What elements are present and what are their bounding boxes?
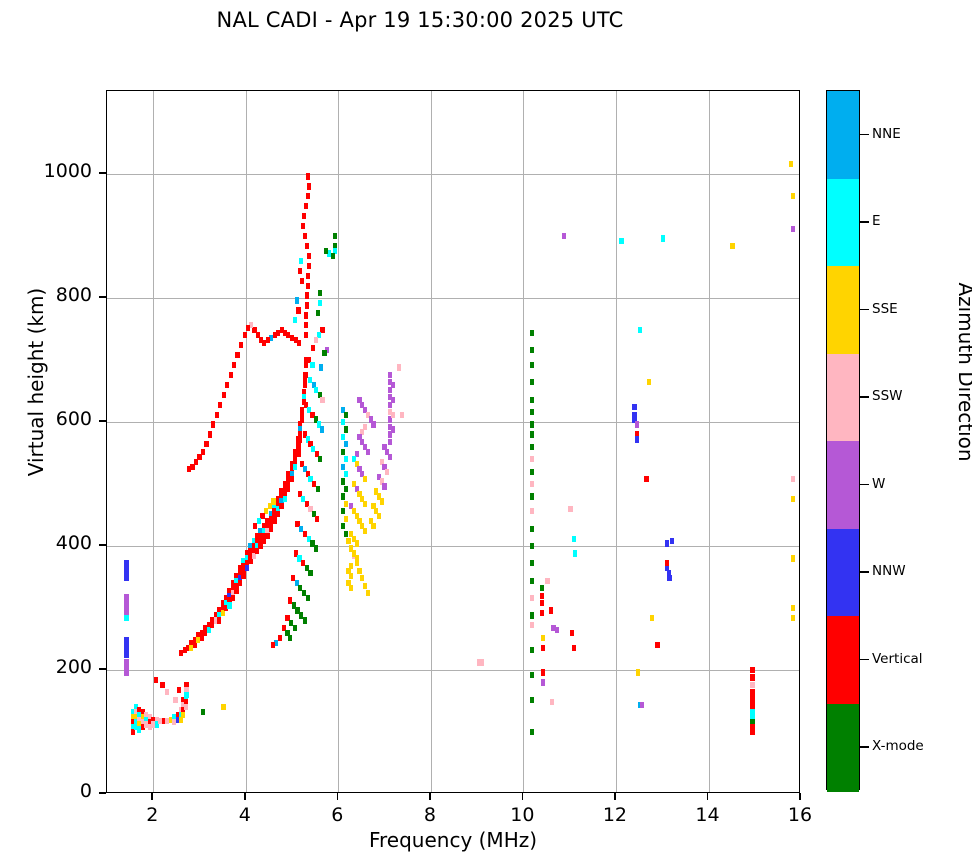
echo-point	[341, 508, 345, 514]
echo-point	[201, 709, 205, 715]
y-axis-tick	[99, 296, 106, 298]
echo-point	[670, 538, 674, 544]
echo-point	[344, 501, 348, 507]
echo-point	[124, 669, 128, 675]
echo-point	[346, 538, 350, 544]
echo-point	[238, 580, 242, 586]
echo-point	[791, 476, 795, 482]
echo-point	[341, 464, 345, 470]
echo-point	[217, 617, 221, 623]
echo-point	[306, 273, 310, 279]
echo-point	[215, 412, 219, 418]
echo-point	[177, 687, 181, 693]
echo-point	[298, 268, 302, 274]
echo-point	[124, 652, 128, 658]
colorbar-label-nne: NNE	[872, 126, 901, 142]
echo-point	[388, 454, 392, 460]
echo-point	[300, 278, 304, 284]
echo-point	[789, 161, 793, 167]
colorbar-segment-x-mode	[827, 704, 859, 792]
echo-point	[184, 692, 188, 698]
y-axis-tick	[99, 544, 106, 546]
echo-point	[530, 647, 534, 653]
colorbar-label-e: E	[872, 213, 881, 229]
echo-point	[363, 476, 367, 482]
echo-point	[173, 697, 177, 703]
echo-point	[750, 674, 754, 680]
echo-point	[307, 263, 311, 269]
echo-point	[265, 533, 269, 539]
echo-point	[650, 615, 654, 621]
echo-point	[391, 397, 395, 403]
ionogram-figure: NAL CADI - Apr 19 15:30:00 2025 UTC Freq…	[0, 0, 972, 865]
echo-point	[791, 226, 795, 232]
colorbar-tick	[860, 134, 869, 136]
echo-point	[344, 516, 348, 522]
echo-point	[530, 397, 534, 403]
echo-point	[344, 456, 348, 462]
echo-point	[540, 593, 544, 599]
echo-point	[221, 704, 225, 710]
echo-point	[310, 362, 314, 368]
echo-point	[530, 508, 534, 514]
echo-point	[391, 382, 395, 388]
echo-point	[293, 625, 297, 631]
echo-point	[791, 496, 795, 502]
echo-point	[271, 498, 275, 504]
echo-point	[257, 518, 261, 524]
echo-point	[357, 568, 361, 574]
colorbar-tick	[860, 309, 869, 311]
colorbar-segment-e	[827, 179, 859, 267]
echo-point	[306, 173, 310, 179]
echo-point	[320, 327, 324, 333]
echo-point	[572, 645, 576, 651]
echo-point	[530, 622, 534, 628]
echo-point	[632, 404, 636, 410]
echo-point	[222, 392, 226, 398]
colorbar-label-x-mode: X-mode	[872, 738, 924, 754]
echo-point	[530, 469, 534, 475]
echo-point	[568, 506, 572, 512]
echo-point	[304, 203, 308, 209]
echo-point	[344, 486, 348, 492]
echo-point	[288, 635, 292, 641]
echo-point	[304, 322, 308, 328]
colorbar-label-w: W	[872, 476, 885, 492]
echo-point	[549, 607, 553, 613]
echo-point	[298, 436, 302, 442]
echo-point	[246, 325, 250, 331]
echo-point	[278, 635, 282, 641]
echo-point	[638, 327, 642, 333]
echo-point	[322, 350, 326, 356]
plot-area	[106, 90, 800, 793]
echo-point	[305, 302, 309, 308]
x-axis-tick	[337, 793, 339, 800]
echo-point	[371, 421, 375, 427]
echo-point	[344, 426, 348, 432]
echo-point	[211, 421, 215, 427]
echo-point	[303, 233, 307, 239]
echo-point	[530, 481, 534, 487]
echo-point	[306, 283, 310, 289]
echo-point	[388, 439, 392, 445]
echo-point	[320, 397, 324, 403]
echo-point	[400, 412, 404, 418]
echo-point	[232, 362, 236, 368]
echo-point	[619, 238, 623, 244]
echo-point	[635, 421, 639, 427]
echo-point	[530, 456, 534, 462]
colorbar-label-vertical: Vertical	[872, 651, 923, 667]
y-axis-tick-label: 200	[22, 656, 92, 678]
data-points-layer	[107, 91, 799, 792]
echo-point	[349, 585, 353, 591]
echo-point	[572, 536, 576, 542]
echo-point	[290, 476, 294, 482]
echo-point	[647, 379, 651, 385]
echo-point	[665, 560, 669, 566]
echo-point	[319, 364, 323, 370]
echo-point	[530, 560, 534, 566]
echo-point	[231, 595, 235, 601]
x-axis-tick	[429, 793, 431, 800]
x-axis-tick-label: 4	[215, 804, 275, 826]
echo-point	[301, 223, 305, 229]
echo-point	[366, 449, 370, 455]
echo-point	[661, 235, 665, 241]
echo-point	[541, 679, 545, 685]
echo-point	[271, 642, 275, 648]
echo-point	[791, 193, 795, 199]
x-axis-tick-label: 6	[307, 804, 367, 826]
y-axis-tick	[99, 172, 106, 174]
echo-point	[341, 493, 345, 499]
echo-point	[341, 523, 345, 529]
echo-point	[371, 523, 375, 529]
echo-point	[344, 441, 348, 447]
echo-point	[655, 642, 659, 648]
colorbar-label: Azimuth Direction	[954, 242, 972, 502]
echo-point	[550, 699, 554, 705]
echo-point	[315, 516, 319, 522]
colorbar-label-ssw: SSW	[872, 388, 903, 404]
y-axis-tick-label: 800	[22, 284, 92, 306]
echo-point	[391, 426, 395, 432]
echo-point	[349, 573, 353, 579]
echo-point	[377, 513, 381, 519]
echo-point	[283, 496, 287, 502]
echo-point	[397, 364, 401, 370]
echo-point	[181, 712, 185, 718]
echo-point	[279, 503, 283, 509]
echo-point	[545, 578, 549, 584]
echo-point	[311, 345, 315, 351]
echo-point	[201, 449, 205, 455]
colorbar-segment-nnw	[827, 529, 859, 617]
echo-point	[573, 550, 577, 556]
echo-point	[269, 526, 273, 532]
colorbar-label-sse: SSE	[872, 301, 898, 317]
echo-point	[307, 253, 311, 259]
echo-point	[791, 605, 795, 611]
echo-point	[302, 213, 306, 219]
colorbar-tick	[860, 571, 869, 573]
echo-point	[344, 412, 348, 418]
echo-point	[304, 332, 308, 338]
echo-point	[366, 590, 370, 596]
echo-point	[570, 630, 574, 636]
echo-point	[154, 677, 158, 683]
colorbar	[826, 90, 860, 790]
echo-point	[184, 704, 188, 710]
y-axis-tick	[99, 668, 106, 670]
echo-point	[274, 640, 278, 646]
echo-point	[187, 466, 191, 472]
x-axis-tick	[614, 793, 616, 800]
echo-point	[290, 335, 294, 341]
echo-point	[380, 498, 384, 504]
echo-point	[530, 578, 534, 584]
echo-point	[791, 615, 795, 621]
echo-point	[331, 253, 335, 259]
echo-point	[227, 602, 231, 608]
echo-point	[530, 672, 534, 678]
echo-point	[318, 456, 322, 462]
echo-point	[305, 243, 309, 249]
colorbar-label-nnw: NNW	[872, 563, 906, 579]
echo-point	[204, 441, 208, 447]
echo-point	[530, 431, 534, 437]
echo-point	[355, 540, 359, 546]
echo-point	[644, 476, 648, 482]
echo-point	[225, 382, 229, 388]
echo-point	[477, 659, 481, 665]
echo-point	[293, 317, 297, 323]
x-axis-tick	[707, 793, 709, 800]
x-axis-tick	[522, 793, 524, 800]
x-axis-tick-label: 2	[122, 804, 182, 826]
echo-point	[541, 645, 545, 651]
echo-point	[344, 471, 348, 477]
echo-point	[341, 419, 345, 425]
echo-point	[363, 501, 367, 507]
echo-point	[295, 297, 299, 303]
echo-point	[253, 523, 257, 529]
echo-point	[530, 362, 534, 368]
echo-point	[286, 486, 290, 492]
echo-point	[530, 595, 534, 601]
x-axis-tick	[244, 793, 246, 800]
echo-point	[218, 402, 222, 408]
echo-point	[391, 412, 395, 418]
colorbar-tick	[860, 221, 869, 223]
echo-point	[307, 183, 311, 189]
echo-point	[791, 555, 795, 561]
echo-point	[303, 617, 307, 623]
colorbar-segment-ssw	[827, 354, 859, 442]
echo-point	[530, 526, 534, 532]
echo-point	[260, 513, 264, 519]
echo-point	[304, 312, 308, 318]
x-axis-tick-label: 16	[770, 804, 830, 826]
echo-point	[320, 426, 324, 432]
echo-point	[363, 528, 367, 534]
echo-point	[385, 469, 389, 475]
echo-point	[667, 575, 671, 581]
echo-point	[324, 248, 328, 254]
y-axis-tick-label: 600	[22, 408, 92, 430]
echo-point	[363, 583, 367, 589]
echo-point	[540, 585, 544, 591]
echo-point	[318, 300, 322, 306]
echo-point	[382, 483, 386, 489]
echo-point	[530, 421, 534, 427]
echo-point	[388, 372, 392, 378]
echo-point	[355, 555, 359, 561]
echo-point	[341, 449, 345, 455]
y-axis-tick-label: 0	[22, 780, 92, 802]
echo-point	[296, 307, 300, 313]
echo-point	[635, 436, 639, 442]
echo-point	[208, 431, 212, 437]
echo-point	[344, 531, 348, 537]
y-axis-tick-label: 400	[22, 532, 92, 554]
echo-point	[305, 292, 309, 298]
echo-point	[750, 667, 754, 673]
echo-point	[318, 290, 322, 296]
echo-point	[234, 588, 238, 594]
echo-point	[530, 543, 534, 549]
echo-point	[245, 565, 249, 571]
echo-point	[235, 352, 239, 358]
echo-point	[296, 451, 300, 457]
y-axis-tick	[99, 420, 106, 422]
echo-point	[165, 689, 169, 695]
echo-point	[341, 434, 345, 440]
echo-point	[314, 337, 318, 343]
echo-point	[280, 327, 284, 333]
echo-point	[241, 573, 245, 579]
x-axis-tick-label: 10	[492, 804, 552, 826]
echo-point	[750, 682, 754, 688]
echo-point	[300, 416, 304, 422]
echo-point	[341, 478, 345, 484]
echo-point	[530, 347, 534, 353]
echo-point	[530, 444, 534, 450]
echo-point	[530, 409, 534, 415]
echo-point	[243, 332, 247, 338]
echo-point	[294, 337, 298, 343]
echo-point	[360, 575, 364, 581]
echo-point	[306, 595, 310, 601]
plot-title: NAL CADI - Apr 19 15:30:00 2025 UTC	[0, 8, 840, 32]
echo-point	[555, 627, 559, 633]
colorbar-segment-nne	[827, 91, 859, 179]
echo-point	[229, 372, 233, 378]
colorbar-tick	[860, 746, 869, 748]
echo-point	[293, 464, 297, 470]
echo-point	[124, 575, 128, 581]
echo-point	[562, 233, 566, 239]
echo-point	[540, 610, 544, 616]
x-axis-tick	[799, 793, 801, 800]
colorbar-tick	[860, 659, 869, 661]
echo-point	[530, 612, 534, 618]
echo-point	[316, 486, 320, 492]
colorbar-segment-vertical	[827, 616, 859, 704]
x-axis-tick	[151, 793, 153, 800]
echo-point	[665, 540, 669, 546]
echo-point	[276, 511, 280, 517]
echo-point	[541, 669, 545, 675]
x-axis-label: Frequency (MHz)	[106, 828, 800, 852]
echo-point	[194, 459, 198, 465]
echo-point	[239, 342, 243, 348]
echo-point	[272, 518, 276, 524]
x-axis-tick-label: 14	[677, 804, 737, 826]
echo-point	[530, 330, 534, 336]
echo-point	[308, 570, 312, 576]
echo-point	[306, 193, 310, 199]
echo-point	[333, 233, 337, 239]
echo-point	[541, 635, 545, 641]
x-axis-tick-label: 12	[585, 804, 645, 826]
echo-point	[636, 669, 640, 675]
y-axis-tick	[99, 792, 106, 794]
echo-point	[640, 702, 644, 708]
echo-point	[273, 332, 277, 338]
echo-point	[160, 682, 164, 688]
echo-point	[266, 337, 270, 343]
echo-point	[530, 379, 534, 385]
echo-point	[750, 729, 754, 735]
colorbar-tick	[860, 396, 869, 398]
echo-point	[124, 615, 128, 621]
echo-point	[530, 697, 534, 703]
echo-point	[540, 600, 544, 606]
echo-point	[314, 545, 318, 551]
echo-point	[530, 493, 534, 499]
echo-point	[316, 310, 320, 316]
colorbar-segment-sse	[827, 266, 859, 354]
y-axis-tick-label: 1000	[22, 160, 92, 182]
colorbar-segment-w	[827, 441, 859, 529]
echo-point	[730, 243, 734, 249]
echo-point	[530, 729, 534, 735]
colorbar-tick	[860, 484, 869, 486]
x-axis-tick-label: 8	[400, 804, 460, 826]
echo-point	[299, 258, 303, 264]
